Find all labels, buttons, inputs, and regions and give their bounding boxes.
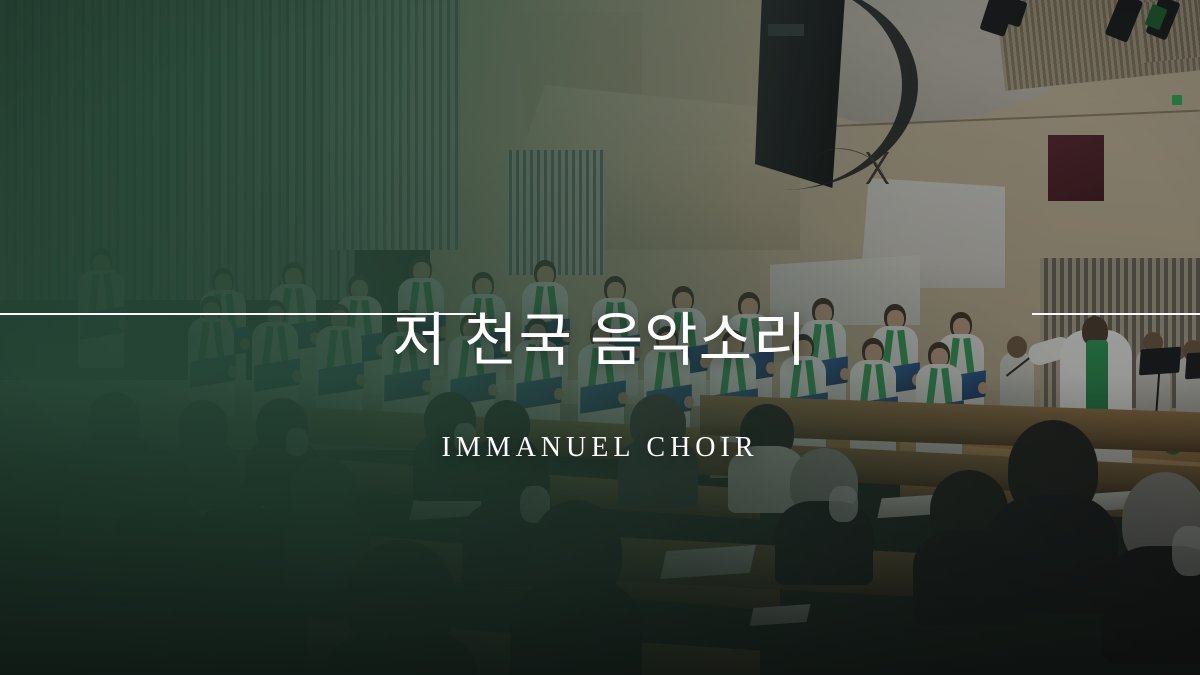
page-title: 저 천국 음악소리 xyxy=(393,307,808,375)
decorative-rule-right-icon xyxy=(1032,313,1200,315)
banner-hero: 저 천국 음악소리 IMMANUEL CHOIR xyxy=(0,0,1200,675)
title-row: 저 천국 음악소리 xyxy=(0,268,1200,414)
hero-title-block: 저 천국 음악소리 IMMANUEL CHOIR xyxy=(0,268,1200,464)
page-subtitle: IMMANUEL CHOIR xyxy=(441,432,758,464)
